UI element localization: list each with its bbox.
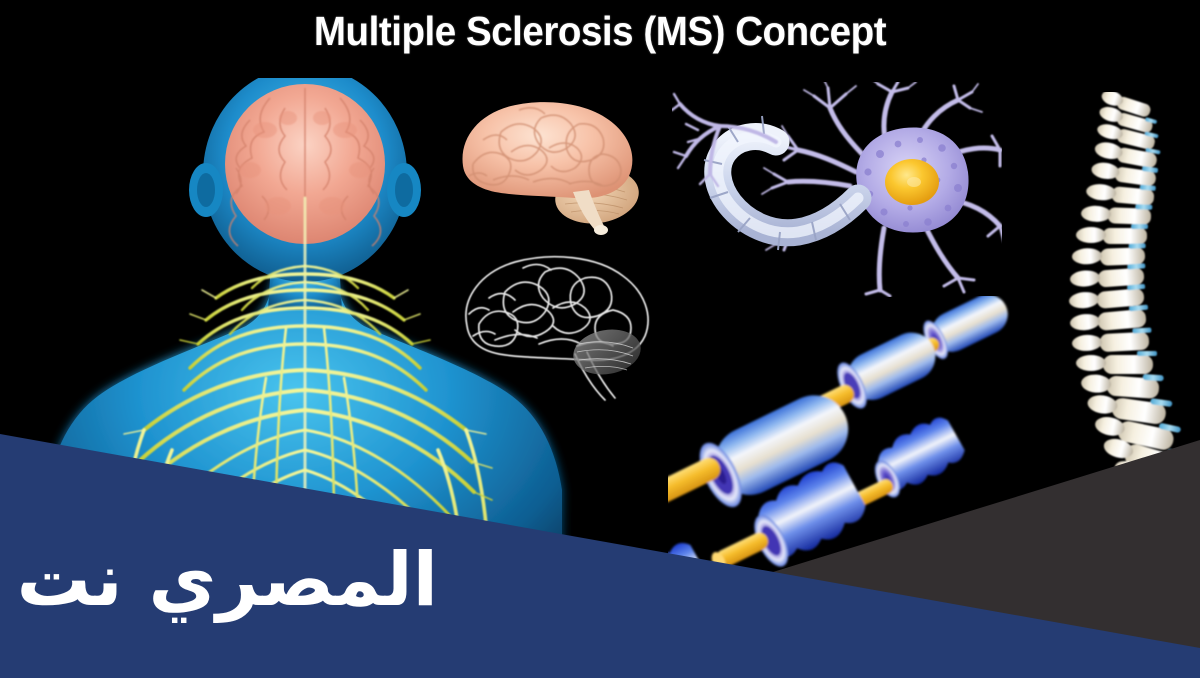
nucleolus xyxy=(907,177,921,187)
page-title: Multiple Sclerosis (MS) Concept xyxy=(36,8,1164,55)
cerebellum-outline xyxy=(570,324,645,379)
brain-lateral-illustration xyxy=(445,92,660,242)
vertebral-column xyxy=(1068,92,1198,492)
neuron-illustration xyxy=(672,82,1002,297)
site-watermark: المصري نت xyxy=(18,528,438,632)
myelin-axon-illustration xyxy=(668,296,1013,586)
myelin-svg xyxy=(668,296,1013,586)
brain-wireframe xyxy=(466,257,648,400)
spine-illustration xyxy=(1055,92,1200,492)
neuron-svg xyxy=(672,82,1002,297)
spine-svg xyxy=(1055,92,1200,492)
brain-outline-svg xyxy=(455,252,660,407)
brain-lateral-svg xyxy=(445,92,660,242)
infographic-canvas: Multiple Sclerosis (MS) Concept xyxy=(0,0,1200,678)
brain-outline-illustration xyxy=(455,252,660,407)
